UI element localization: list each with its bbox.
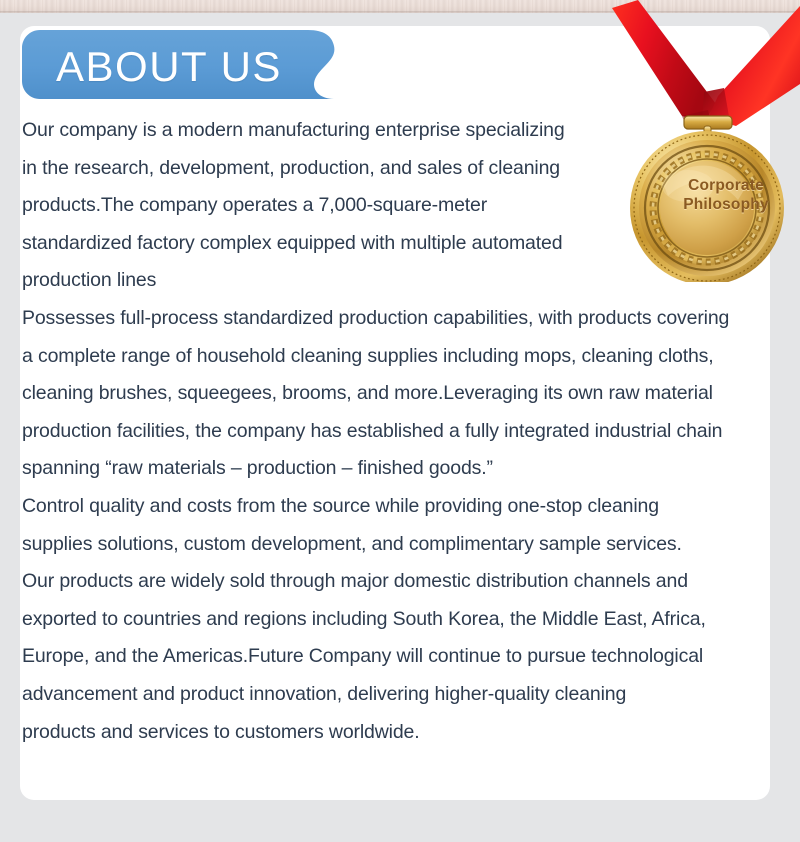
body-line: exported to countries and regions includ… bbox=[22, 601, 774, 639]
medal-graphic bbox=[612, 0, 800, 282]
body-line: Our products are widely sold through maj… bbox=[22, 563, 774, 601]
body-line: supplies solutions, custom development, … bbox=[22, 526, 774, 564]
body-line: advancement and product innovation, deli… bbox=[22, 676, 774, 714]
body-line: products and services to customers world… bbox=[22, 714, 774, 752]
ribbon-left bbox=[612, 0, 716, 122]
body-line: a complete range of household cleaning s… bbox=[22, 338, 774, 376]
page-title: ABOUT US bbox=[56, 38, 282, 96]
body-line: Control quality and costs from the sourc… bbox=[22, 488, 774, 526]
body-line: Possesses full-process standardized prod… bbox=[22, 300, 774, 338]
body-line: production facilities, the company has e… bbox=[22, 413, 774, 451]
body-line: cleaning brushes, squeegees, brooms, and… bbox=[22, 375, 774, 413]
body-line: spanning “raw materials – production – f… bbox=[22, 450, 774, 488]
body-line: Europe, and the Americas.Future Company … bbox=[22, 638, 774, 676]
medal-gloss bbox=[662, 170, 714, 202]
about-us-banner: ABOUT US bbox=[22, 30, 340, 108]
corporate-philosophy-medal: Corporate Philosophy bbox=[612, 0, 800, 282]
